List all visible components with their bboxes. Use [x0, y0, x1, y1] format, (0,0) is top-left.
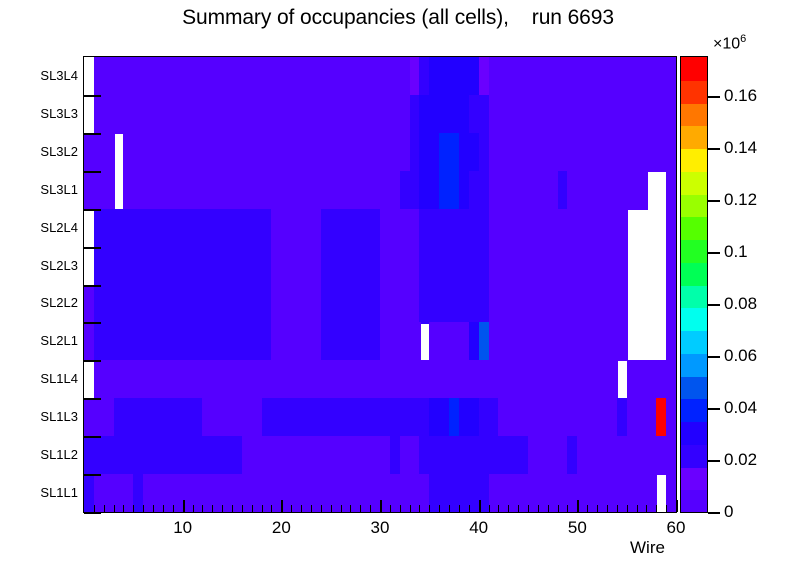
x-tick-minor [341, 505, 342, 512]
heatmap-cell [617, 247, 628, 286]
heatmap-cell [104, 133, 115, 172]
y-tick-mark [84, 322, 101, 324]
colorbar-exponent-base: ×10 [713, 35, 740, 52]
colorbar-band [681, 171, 707, 195]
y-tick-mark [84, 171, 101, 173]
colorbar-band [681, 103, 707, 127]
x-tick-minor [637, 505, 638, 512]
colorbar-band [681, 216, 707, 240]
heatmap-cell [666, 398, 676, 437]
x-tick-minor [627, 505, 628, 512]
x-tick-minor [558, 505, 559, 512]
heatmap-cell [666, 171, 676, 210]
heatmap-cell [666, 247, 676, 286]
x-tick-minor [538, 505, 539, 512]
colorbar-tick-label: 0 [724, 502, 733, 522]
x-tick-minor [153, 505, 154, 512]
colorbar-band [681, 421, 707, 445]
x-tick-minor [597, 505, 598, 512]
x-tick-minor [262, 505, 263, 512]
x-tick-minor [617, 505, 618, 512]
x-tick-minor [360, 505, 361, 512]
x-tick-minor [202, 505, 203, 512]
x-tick-minor [390, 505, 391, 512]
x-tick-minor [143, 505, 144, 512]
colorbar-band [681, 285, 707, 309]
x-tick-minor [498, 505, 499, 512]
colorbar-tick-label: 0.14 [724, 138, 757, 158]
heatmap-cell [617, 285, 628, 324]
x-tick-minor [104, 505, 105, 512]
colorbar-tick-label: 0.12 [724, 190, 757, 210]
heatmap-cell [104, 171, 115, 210]
x-tick-label: 60 [651, 518, 701, 538]
colorbar-tick-mark [708, 408, 720, 410]
colorbar-band [681, 444, 707, 468]
x-tick-minor [301, 505, 302, 512]
y-tick-mark [84, 398, 101, 400]
y-tick-mark [84, 436, 101, 438]
heatmap-cell [666, 474, 676, 512]
x-tick-minor [321, 505, 322, 512]
y-tick-mark [84, 133, 101, 135]
colorbar-tick-label: 0.16 [724, 86, 757, 106]
x-tick-minor [508, 505, 509, 512]
x-tick-minor [163, 505, 164, 512]
y-tick-label: SL2L1 [0, 333, 78, 348]
colorbar-band [681, 489, 707, 513]
colorbar-band [681, 467, 707, 491]
heatmap-cell [666, 209, 676, 248]
heatmap-cell [617, 322, 628, 361]
y-tick-label: SL1L1 [0, 485, 78, 500]
y-tick-mark [84, 360, 101, 362]
colorbar-band [681, 125, 707, 149]
x-tick-minor [548, 505, 549, 512]
colorbar-band [681, 239, 707, 263]
colorbar-tick-mark [708, 148, 720, 150]
heatmap-cell [666, 360, 676, 399]
x-tick-major [380, 500, 382, 512]
colorbar-band [681, 376, 707, 400]
colorbar-tick-label: 0.02 [724, 450, 757, 470]
x-tick-minor [291, 505, 292, 512]
colorbar-tick-mark [708, 512, 720, 514]
x-tick-minor [419, 505, 420, 512]
heatmap-cells[interactable] [84, 57, 676, 512]
y-tick-label: SL2L2 [0, 295, 78, 310]
x-axis-title: Wire [630, 538, 665, 558]
x-tick-major [183, 500, 185, 512]
page-title: Summary of occupancies (all cells), run … [0, 6, 796, 30]
colorbar-band [681, 57, 707, 81]
y-tick-label: SL1L4 [0, 371, 78, 386]
x-tick-minor [587, 505, 588, 512]
x-tick-minor [459, 505, 460, 512]
heatmap-cell [637, 171, 648, 210]
x-tick-minor [518, 505, 519, 512]
x-tick-minor [656, 505, 657, 512]
x-tick-minor [469, 505, 470, 512]
heatmap-cell [666, 285, 676, 324]
x-tick-minor [212, 505, 213, 512]
y-tick-mark [84, 247, 101, 249]
x-tick-minor [123, 505, 124, 512]
x-tick-minor [567, 505, 568, 512]
colorbar-tick-mark [708, 356, 720, 358]
heatmap-cell [666, 436, 676, 475]
x-tick-minor [193, 505, 194, 512]
colorbar-tick-label: 0.06 [724, 346, 757, 366]
heatmap-cell [607, 360, 618, 399]
plot-frame[interactable] [83, 56, 677, 513]
y-tick-mark [84, 95, 101, 97]
x-tick-minor [410, 505, 411, 512]
y-tick-label: SL3L1 [0, 182, 78, 197]
x-tick-major [577, 500, 579, 512]
colorbar-band [681, 262, 707, 286]
x-tick-label: 10 [158, 518, 208, 538]
colorbar-tick-label: 0.04 [724, 398, 757, 418]
x-tick-label: 20 [256, 518, 306, 538]
heatmap-cell [666, 57, 676, 96]
y-tick-mark [84, 285, 101, 287]
x-tick-minor [133, 505, 134, 512]
x-tick-minor [271, 505, 272, 512]
colorbar-band [681, 330, 707, 354]
colorbar-tick-mark [708, 96, 720, 98]
x-tick-minor [350, 505, 351, 512]
x-tick-minor [607, 505, 608, 512]
x-tick-minor [400, 505, 401, 512]
y-tick-label: SL1L3 [0, 409, 78, 424]
x-tick-minor [429, 505, 430, 512]
y-tick-label: SL1L2 [0, 447, 78, 462]
y-tick-label: SL3L4 [0, 68, 78, 83]
colorbar-exponent: ×106 [713, 33, 746, 53]
x-tick-major [479, 500, 481, 512]
x-tick-label: 30 [355, 518, 405, 538]
x-tick-minor [331, 505, 332, 512]
x-tick-major [676, 500, 678, 512]
y-tick-mark [84, 474, 101, 476]
x-tick-minor [114, 505, 115, 512]
x-tick-minor [370, 505, 371, 512]
heatmap-cell [410, 322, 421, 361]
colorbar-band [681, 80, 707, 104]
x-tick-minor [232, 505, 233, 512]
heatmap-cell [666, 95, 676, 134]
x-tick-minor [449, 505, 450, 512]
x-tick-minor [666, 505, 667, 512]
y-tick-label: SL2L3 [0, 258, 78, 273]
colorbar-band [681, 307, 707, 331]
colorbar-tick-mark [708, 200, 720, 202]
colorbar-tick-mark [708, 252, 720, 254]
colorbar-band [681, 398, 707, 422]
color-scale-bar[interactable] [680, 56, 708, 513]
x-tick-minor [173, 505, 174, 512]
y-tick-mark [84, 512, 101, 514]
x-tick-label: 40 [454, 518, 504, 538]
colorbar-tick-label: 0.08 [724, 294, 757, 314]
heatmap-cell [666, 133, 676, 172]
y-tick-mark [84, 209, 101, 211]
y-tick-label: SL2L4 [0, 220, 78, 235]
x-tick-minor [439, 505, 440, 512]
colorbar-tick-label: 0.1 [724, 242, 748, 262]
x-tick-minor [94, 505, 95, 512]
x-tick-minor [646, 505, 647, 512]
colorbar-tick-mark [708, 304, 720, 306]
x-tick-minor [528, 505, 529, 512]
x-tick-major [281, 500, 283, 512]
y-tick-label: SL3L3 [0, 106, 78, 121]
y-tick-label: SL3L2 [0, 144, 78, 159]
colorbar-band [681, 353, 707, 377]
x-tick-minor [311, 505, 312, 512]
x-tick-minor [222, 505, 223, 512]
x-tick-minor [242, 505, 243, 512]
colorbar-band [681, 148, 707, 172]
heatmap-cell [666, 322, 676, 361]
colorbar-band [681, 194, 707, 218]
x-tick-label: 50 [552, 518, 602, 538]
colorbar-exponent-power: 6 [740, 33, 746, 45]
x-tick-minor [489, 505, 490, 512]
heatmap-cell [617, 209, 628, 248]
x-tick-minor [252, 505, 253, 512]
root-canvas: Summary of occupancies (all cells), run … [0, 0, 796, 572]
colorbar-tick-mark [708, 460, 720, 462]
